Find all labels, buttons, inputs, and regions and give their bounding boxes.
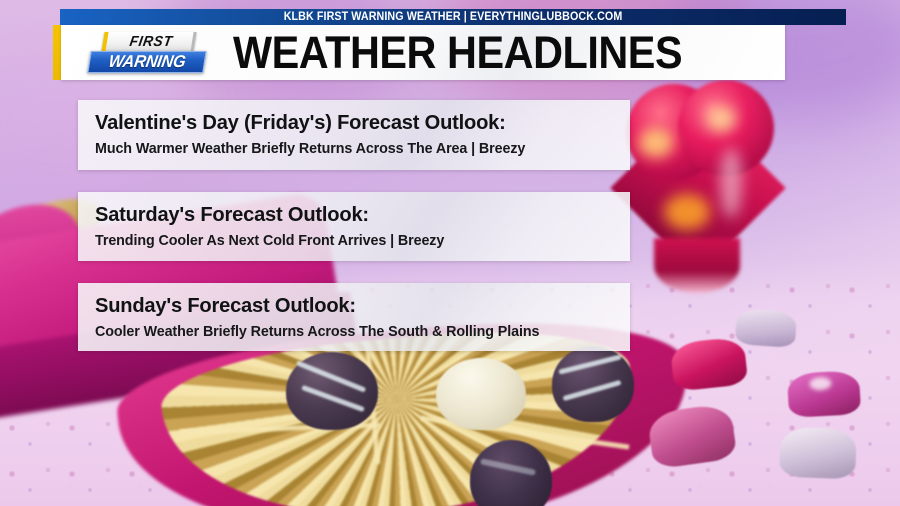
heart-highlight (706, 106, 736, 132)
chocolate-truffle (552, 346, 634, 422)
headline-title: Saturday's Forecast Outlook: (95, 201, 619, 229)
logo-warning-text: WARNING (90, 51, 204, 73)
white-chocolate-truffle (436, 358, 526, 430)
foil-wrapped-candy (779, 427, 857, 480)
station-ticker-bar: KLBK FIRST WARNING WEATHER | EVERYTHINGL… (60, 9, 846, 25)
truffle-drizzle (562, 380, 621, 401)
chocolate-truffle (286, 352, 378, 430)
red-glass-heart-ornament (620, 78, 780, 293)
station-ticker-text: KLBK FIRST WARNING WEATHER | EVERYTHINGL… (284, 11, 623, 23)
header-accent-bar (53, 25, 61, 80)
foil-wrapped-candy (787, 370, 861, 418)
headline-card-3: Sunday's Forecast Outlook: Cooler Weathe… (78, 283, 630, 351)
headline-card-2: Saturday's Forecast Outlook: Trending Co… (78, 192, 630, 261)
truffle-drizzle (480, 458, 536, 476)
headline-card-1: Valentine's Day (Friday's) Forecast Outl… (78, 100, 630, 170)
headline-title: Valentine's Day (Friday's) Forecast Outl… (95, 109, 619, 137)
headline-title: Sunday's Forecast Outlook: (95, 292, 619, 320)
headline-subtitle: Cooler Weather Briefly Returns Across Th… (95, 320, 619, 344)
headline-subtitle: Much Warmer Weather Briefly Returns Acro… (95, 137, 619, 161)
first-warning-logo: FIRST WARNING (87, 30, 207, 76)
header-title-panel: FIRST WARNING WEATHER HEADLINES (61, 25, 785, 80)
logo-first-text: FIRST (110, 32, 193, 52)
headline-subtitle: Trending Cooler As Next Cold Front Arriv… (95, 229, 619, 253)
heart-highlight (664, 194, 710, 230)
heart-highlight (638, 128, 674, 158)
foil-wrapped-candy (735, 308, 797, 348)
heart-highlight (720, 148, 742, 218)
heart-base (654, 238, 740, 293)
foil-highlight (809, 377, 832, 391)
weather-header: KLBK FIRST WARNING WEATHER | EVERYTHINGL… (0, 0, 900, 86)
page-title: WEATHER HEADLINES (233, 27, 682, 79)
heart-chocolate-box (120, 330, 690, 506)
truffle-drizzle (558, 354, 621, 374)
